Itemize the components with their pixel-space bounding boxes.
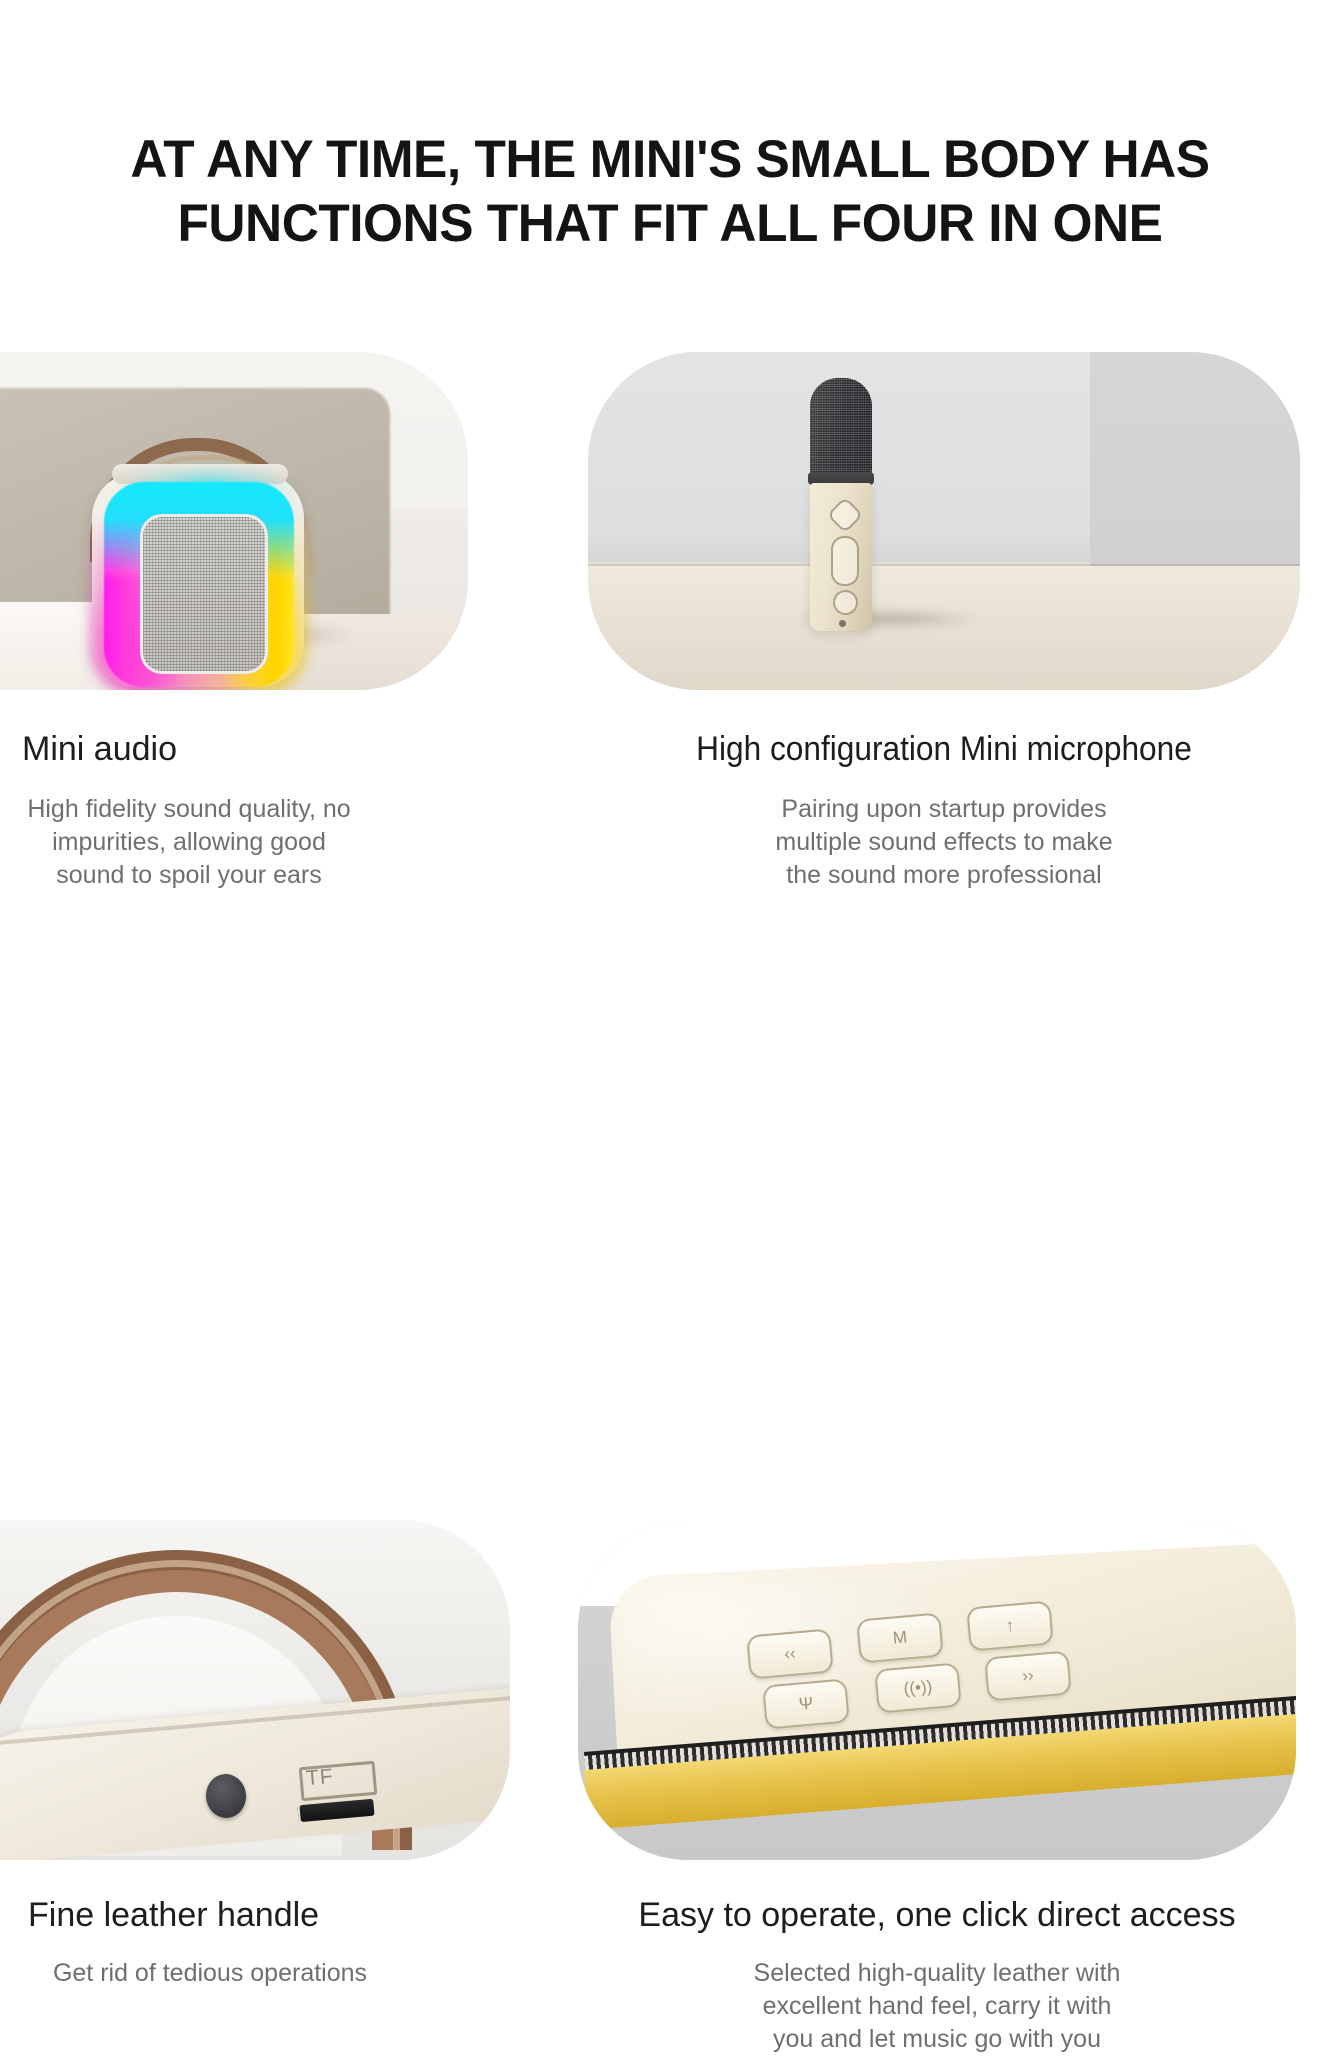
- feature-card-mini-audio: Mini audio High fidelity sound quality, …: [0, 352, 560, 892]
- feature-card-leather-handle: TF Fine leather handle Get rid of tediou…: [0, 1520, 560, 1990]
- feature-card-easy-operate: ‹‹ M ↑ Ψ ((•)) ›› Easy to operate, one c…: [578, 1520, 1340, 2056]
- feature-body-line: sound to spoil your ears: [0, 859, 378, 892]
- feature-body-line: multiple sound effects to make: [588, 826, 1300, 859]
- feature-body-easy-operate: Selected high-quality leather with excel…: [578, 1957, 1296, 2056]
- microphone-round-button: [833, 590, 858, 615]
- feature-title-mini-audio: Mini audio: [22, 730, 560, 769]
- feature-body-mini-audio: High fidelity sound quality, no impuriti…: [0, 793, 378, 892]
- feature-title-easy-operate: Easy to operate, one click direct access: [578, 1896, 1296, 1935]
- feature-body-line: High fidelity sound quality, no: [0, 793, 378, 826]
- page-title-line-1: AT ANY TIME, THE MINI'S SMALL BODY HAS: [20, 128, 1320, 192]
- feature-title-mini-microphone: High configuration Mini microphone: [613, 730, 1275, 769]
- feature-body-line: impurities, allowing good: [0, 826, 378, 859]
- feature-body-line: you and let music go with you: [578, 2023, 1296, 2056]
- page-title-line-2: FUNCTIONS THAT FIT ALL FOUR IN ONE: [20, 192, 1320, 256]
- feature-body-line: Pairing upon startup provides: [588, 793, 1300, 826]
- prev-track-button[interactable]: ‹‹: [746, 1628, 834, 1679]
- mini-audio-photo: [0, 352, 468, 690]
- leather-handle-photo: TF: [0, 1520, 510, 1860]
- mode-button[interactable]: M: [856, 1612, 944, 1663]
- feature-body-leather-handle: Get rid of tedious operations: [0, 1957, 420, 1990]
- feature-body-mini-microphone: Pairing upon startup provides multiple s…: [588, 793, 1300, 892]
- feature-body-line: excellent hand feel, carry it with: [578, 1990, 1296, 2023]
- microphone-led-dot: [839, 620, 846, 627]
- tf-label-text: TF: [305, 1765, 335, 1791]
- feature-grid: Mini audio High fidelity sound quality, …: [0, 352, 1340, 1500]
- page-title: AT ANY TIME, THE MINI'S SMALL BODY HAS F…: [20, 128, 1320, 256]
- mic-button[interactable]: Ψ: [762, 1678, 850, 1729]
- next-track-button[interactable]: ››: [984, 1650, 1072, 1701]
- feature-row-top: Mini audio High fidelity sound quality, …: [0, 352, 1340, 932]
- feature-card-mini-microphone: High configuration Mini microphone Pairi…: [588, 352, 1340, 892]
- feature-title-leather-handle: Fine leather handle: [28, 1896, 560, 1935]
- microphone-pill-slider-button: [831, 536, 859, 586]
- feature-body-line: the sound more professional: [588, 859, 1300, 892]
- mini-microphone-photo: [588, 352, 1300, 690]
- volume-up-button[interactable]: ↑: [966, 1600, 1054, 1651]
- microphone-mesh-head: [810, 378, 872, 476]
- control-panel-photo: ‹‹ M ↑ Ψ ((•)) ››: [578, 1520, 1296, 1860]
- feature-body-line: Selected high-quality leather with: [578, 1957, 1296, 1990]
- speaker-mesh-grille: [140, 514, 268, 674]
- bluetooth-button[interactable]: ((•)): [874, 1662, 962, 1713]
- feature-row-bottom: TF Fine leather handle Get rid of tediou…: [0, 940, 1340, 1500]
- feature-body-line: Get rid of tedious operations: [0, 1957, 420, 1990]
